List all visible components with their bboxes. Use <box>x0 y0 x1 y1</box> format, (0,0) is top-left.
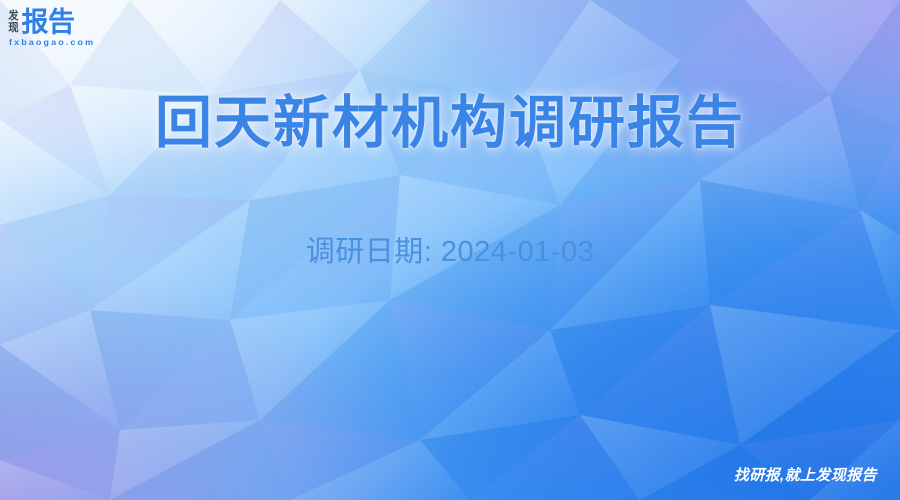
brand-url: fxbaogao.com <box>8 37 116 47</box>
brand-wordmark: 报告 <box>22 7 75 36</box>
brand-mark-bottom-char: 现 <box>8 22 18 34</box>
brand-logo-mark: 发 现 <box>8 9 19 34</box>
brand-logo-row: 发 现 报告 <box>8 7 116 36</box>
footer-slogan: 找研报,就上发现报告 <box>734 466 877 486</box>
brand-logo[interactable]: 发 现 报告 fxbaogao.com <box>8 7 116 51</box>
cover-title: 回天新材机构调研报告 <box>0 87 900 159</box>
brand-mark-top-char: 发 <box>8 10 18 22</box>
cover-subtitle-research-date: 调研日期: 2024-01-03 <box>0 232 900 272</box>
report-cover: 发 现 报告 fxbaogao.com 回天新材机构调研报告 调研日期: 202… <box>0 0 900 500</box>
